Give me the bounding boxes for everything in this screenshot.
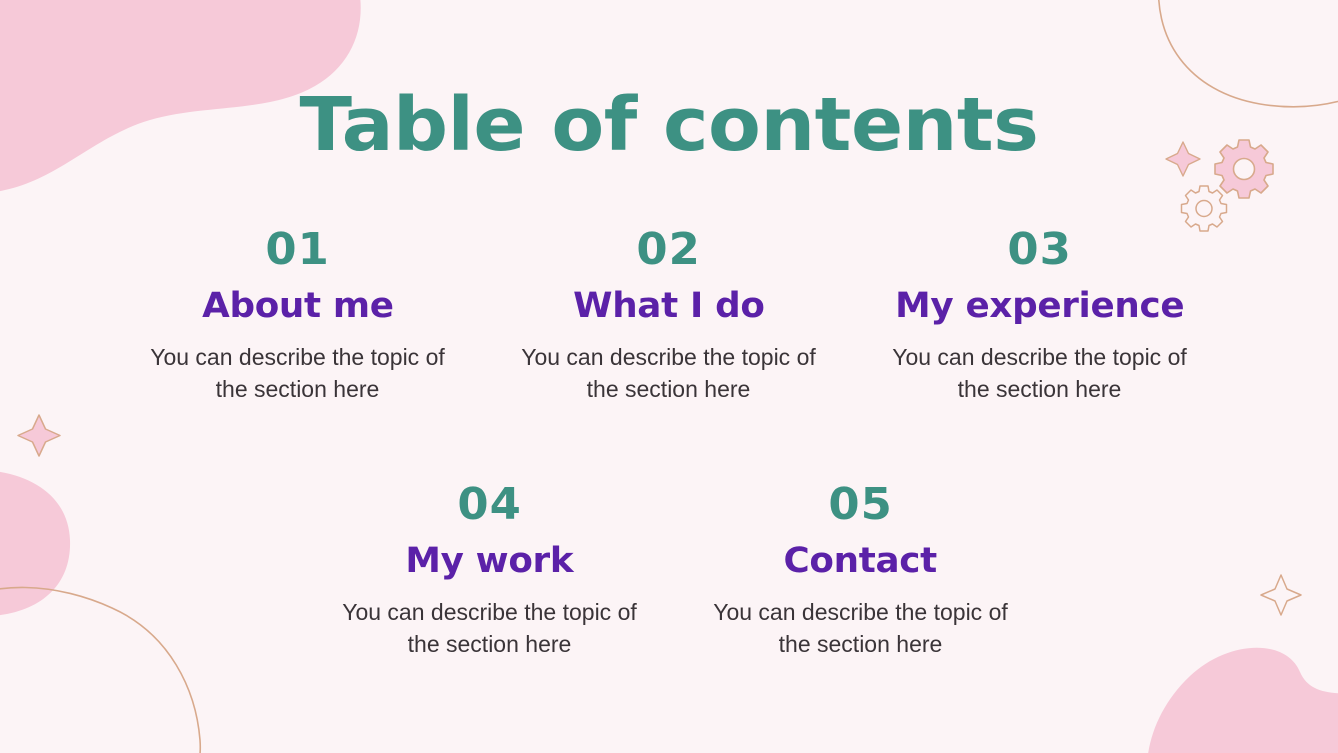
section-item-what-i-do[interactable]: 02 What I do You can describe the topic … [483, 228, 854, 405]
section-heading: What I do [573, 289, 764, 324]
section-heading: My experience [895, 289, 1184, 324]
section-number: 03 [1007, 228, 1071, 272]
section-heading: About me [202, 289, 394, 324]
section-number: 01 [265, 228, 329, 272]
section-number: 02 [636, 228, 700, 272]
sections-row-bottom: 04 My work You can describe the topic of… [0, 483, 1338, 660]
pink-blob-bottom-right-shape [1147, 648, 1338, 753]
section-number: 05 [828, 483, 892, 527]
sparkle-filled-left-icon [18, 415, 60, 456]
section-description: You can describe the topic of the sectio… [875, 342, 1205, 405]
section-number: 04 [457, 483, 521, 527]
section-item-my-work[interactable]: 04 My work You can describe the topic of… [304, 483, 675, 660]
section-description: You can describe the topic of the sectio… [696, 597, 1026, 660]
section-heading: Contact [784, 544, 937, 579]
section-description: You can describe the topic of the sectio… [504, 342, 834, 405]
section-item-my-experience[interactable]: 03 My experience You can describe the to… [854, 228, 1225, 405]
page-title: Table of contents [0, 88, 1338, 162]
section-description: You can describe the topic of the sectio… [133, 342, 463, 405]
sections-row-top: 01 About me You can describe the topic o… [0, 228, 1338, 405]
section-item-contact[interactable]: 05 Contact You can describe the topic of… [675, 483, 1046, 660]
section-heading: My work [406, 544, 574, 579]
slide-table-of-contents: Table of contents 01 About me You can de… [0, 0, 1338, 753]
section-description: You can describe the topic of the sectio… [325, 597, 655, 660]
gear-outline-icon [1182, 186, 1227, 231]
section-item-about-me[interactable]: 01 About me You can describe the topic o… [112, 228, 483, 405]
